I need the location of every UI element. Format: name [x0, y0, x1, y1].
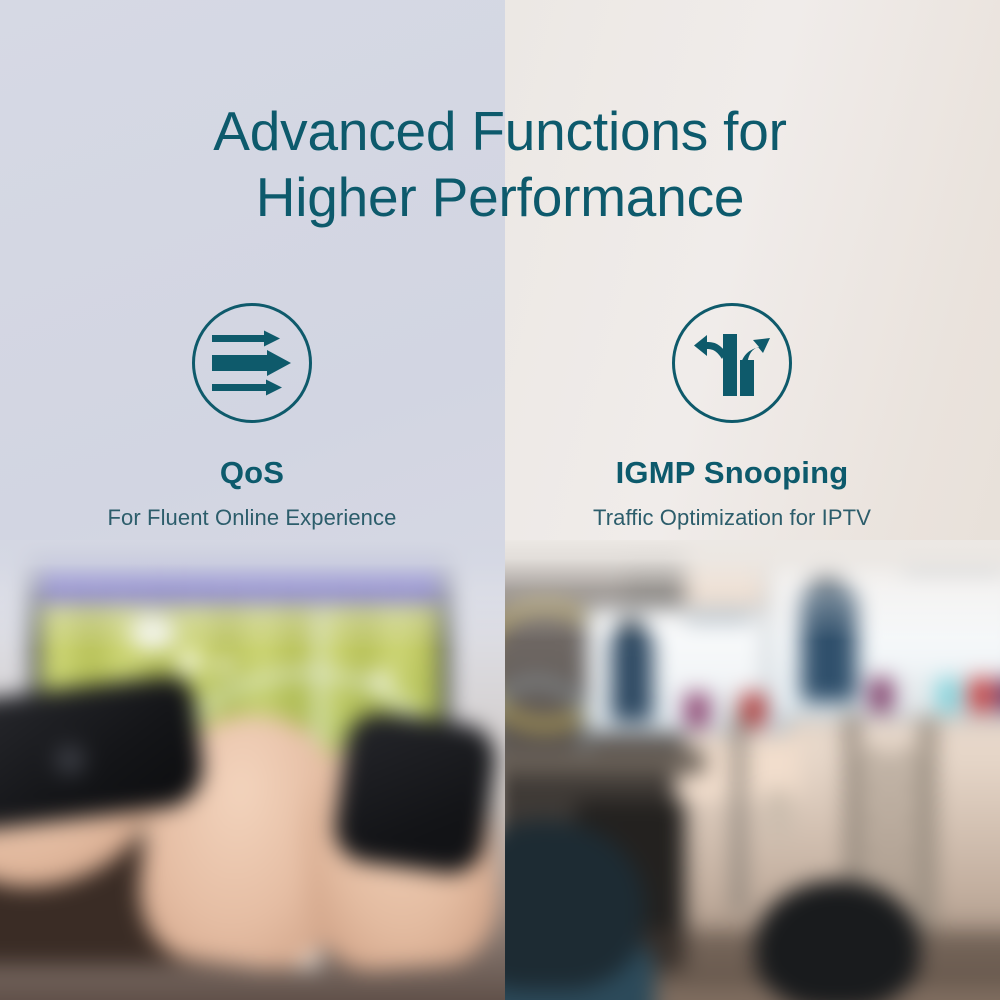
foreground-person-head	[755, 880, 920, 1000]
feature-qos-description: For Fluent Online Experience	[2, 505, 502, 531]
feature-igmp-description: Traffic Optimization for IPTV	[482, 505, 982, 531]
product-thumb	[869, 678, 893, 712]
product-thumb	[937, 678, 961, 712]
feature-qos-name: QoS	[2, 455, 502, 491]
broadcast-product-row	[589, 687, 786, 727]
screen-stand-pole	[733, 712, 745, 912]
stadium-stands-highlights	[40, 550, 440, 610]
broadcast-product-row	[769, 672, 1000, 712]
stadium-light-glow	[130, 612, 176, 652]
player-marker	[176, 650, 202, 672]
page-title: Advanced Functions for Higher Performanc…	[0, 98, 1000, 230]
product-thumb	[969, 678, 993, 712]
photo-band	[0, 540, 1000, 1000]
road-fork-arrows-icon	[672, 303, 792, 423]
broadcast-banner	[685, 613, 753, 622]
broadcast-banner	[904, 560, 1000, 571]
controller-thumbstick	[55, 745, 85, 775]
game-controller-right-grip	[330, 708, 499, 877]
player-marker	[215, 658, 233, 674]
gaming-scene-blur-layer	[0, 540, 505, 1000]
wall-plate	[765, 790, 791, 838]
counter-top	[505, 750, 705, 774]
player-marker	[370, 670, 392, 690]
page-title-line-1: Advanced Functions for	[0, 98, 1000, 164]
photo-gaming-scene	[0, 540, 505, 1000]
feature-qos: QoS For Fluent Online Experience	[2, 290, 502, 531]
product-thumb	[685, 693, 709, 727]
feature-poster: Advanced Functions for Higher Performanc…	[0, 0, 1000, 1000]
priority-arrows-icon	[192, 303, 312, 423]
photo-showroom-scene	[505, 540, 1000, 1000]
showroom-scene-blur-layer	[505, 540, 1000, 1000]
page-title-line-2: Higher Performance	[0, 164, 1000, 230]
iptv-screen-front-display	[769, 554, 1000, 716]
product-thumb	[903, 678, 927, 712]
iptv-screen-back-display	[589, 609, 786, 731]
feature-igmp-name: IGMP Snooping	[482, 455, 982, 491]
feature-igmp-snooping: IGMP Snooping Traffic Optimization for I…	[482, 290, 982, 531]
